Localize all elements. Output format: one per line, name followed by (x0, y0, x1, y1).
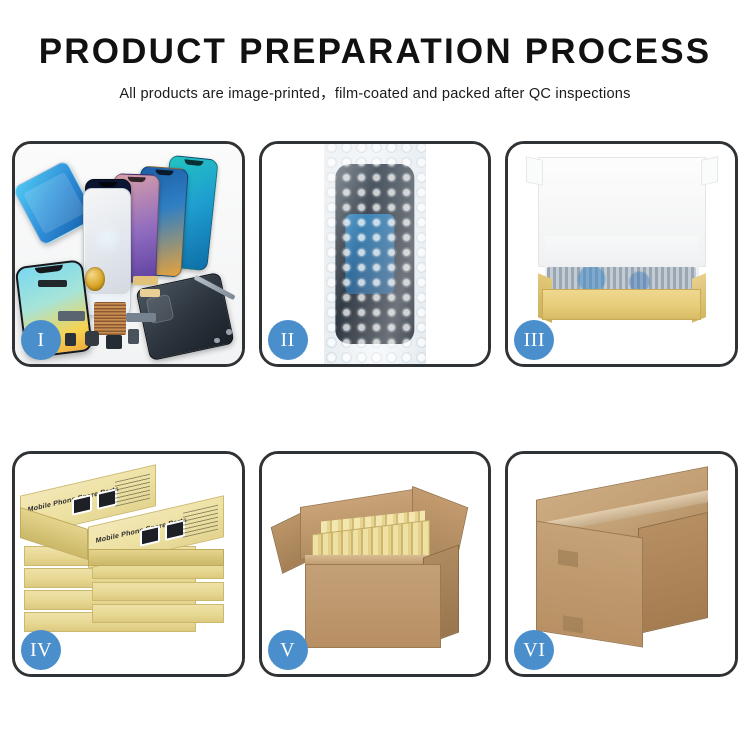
part-camera-module-icon (85, 331, 99, 346)
notch-icon (155, 169, 174, 175)
process-steps-grid: I II III (12, 141, 738, 677)
part-speaker-mesh-icon (38, 280, 67, 287)
retail-box-layer (92, 604, 223, 624)
step-panel-4: Mobile Phone Spare Parts Mobile Phone Sp… (12, 451, 245, 677)
tempered-glass-icon (83, 188, 131, 316)
part-flex-cable-icon (133, 276, 158, 285)
part-vibration-motor-icon (128, 329, 138, 344)
step-panel-5: V (259, 451, 492, 677)
notch-icon (99, 182, 117, 187)
part-flex-cable-icon (140, 289, 160, 296)
box-artwork-phone-icon (139, 525, 159, 547)
step-badge-5: V (268, 630, 308, 670)
retail-box-side (88, 549, 224, 567)
page-title: PRODUCT PREPARATION PROCESS (0, 34, 750, 71)
sealed-carton-right-panel (638, 512, 708, 634)
step-badge-1: I (21, 320, 61, 360)
carton-hand-hole (563, 615, 583, 634)
step-panel-1: I (12, 141, 245, 367)
part-flex-cable-icon (126, 313, 155, 322)
box-spec-text-lines (114, 474, 149, 507)
part-screw-icon (226, 329, 232, 335)
sealed-carton-front-panel (536, 520, 643, 647)
box-artwork-phone-icon (71, 494, 91, 516)
box-spec-text-lines (182, 505, 217, 538)
part-copper-shield-icon (94, 302, 126, 335)
step-panel-6: VI (505, 451, 738, 677)
notch-icon (184, 159, 203, 166)
step-badge-2: II (268, 320, 308, 360)
part-connector-icon (65, 333, 76, 346)
carton-front-panel (305, 564, 441, 648)
part-charging-coil-icon (85, 267, 104, 291)
product-preparation-infographic: PRODUCT PREPARATION PROCESS All products… (0, 0, 750, 750)
step-badge-4: IV (21, 630, 61, 670)
part-battery-connector-icon (106, 335, 122, 348)
step-panel-3: III (505, 141, 738, 367)
retail-box-layer (92, 582, 223, 602)
notch-icon (128, 176, 146, 182)
header: PRODUCT PREPARATION PROCESS All products… (0, 0, 750, 103)
part-flex-cable-icon (58, 311, 85, 321)
step-panel-2: II (259, 141, 492, 367)
page-subtitle: All products are image-printed，film-coat… (0, 82, 750, 103)
mailer-front-panel (542, 289, 701, 320)
carton-hand-hole (558, 549, 578, 568)
plastic-sheen (324, 144, 426, 364)
